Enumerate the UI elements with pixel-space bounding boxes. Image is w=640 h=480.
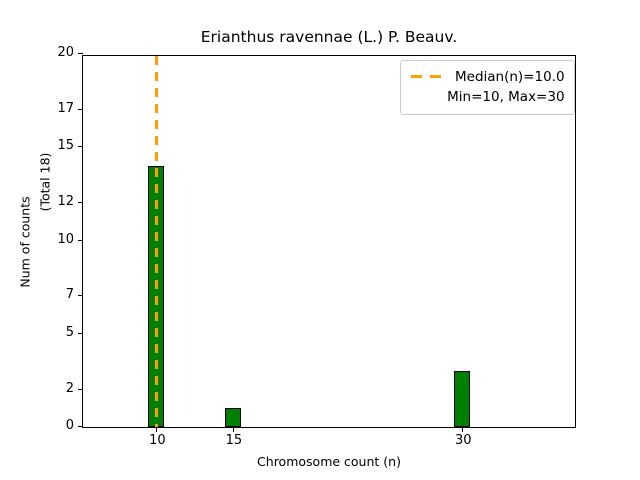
y-axis-tick-label: 5 (66, 325, 74, 340)
y-axis-label-container: Num of counts (14, 55, 36, 428)
y-axis-tick-label: 10 (57, 232, 74, 247)
y-axis-tick: 20 (78, 53, 83, 54)
y-axis-tick-label: 17 (57, 101, 74, 116)
legend-label-median: Median(n)=10.0 (455, 69, 565, 85)
legend-item-median: Median(n)=10.0 (410, 67, 565, 87)
y-axis-tick-label: 7 (66, 287, 74, 302)
legend: Median(n)=10.0 Min=10, Max=30 (400, 60, 575, 115)
page-title: Erianthus ravennae (L.) P. Beauv. (82, 28, 576, 46)
y-axis-tick-label: 20 (57, 45, 74, 60)
legend-item-minmax: Min=10, Max=30 (410, 87, 565, 107)
y-axis-tick-label: 0 (66, 418, 74, 433)
median-line (155, 56, 158, 427)
dashed-line-icon (410, 67, 446, 87)
legend-label-minmax: Min=10, Max=30 (447, 89, 564, 105)
x-axis-tick: 30 (462, 427, 463, 432)
y-axis-total-label: (Total 18) (38, 152, 53, 211)
y-axis-tick-label: 2 (66, 381, 74, 396)
x-axis-tick-label: 30 (455, 433, 472, 448)
x-axis-tick: 15 (233, 427, 234, 432)
x-axis-tick: 10 (156, 427, 157, 432)
x-axis-tick-label: 10 (149, 433, 166, 448)
x-axis-tick-label: 15 (226, 433, 243, 448)
y-axis-secondary-label-container: (Total 18) (34, 55, 56, 428)
matplotlib-figure: Erianthus ravennae (L.) P. Beauv. Num of… (0, 0, 640, 480)
y-axis-tick-label: 15 (57, 138, 74, 153)
y-axis-tick-label: 12 (57, 194, 74, 209)
x-axis-label: Chromosome count (n) (82, 454, 576, 469)
y-axis-label: Num of counts (18, 196, 33, 287)
